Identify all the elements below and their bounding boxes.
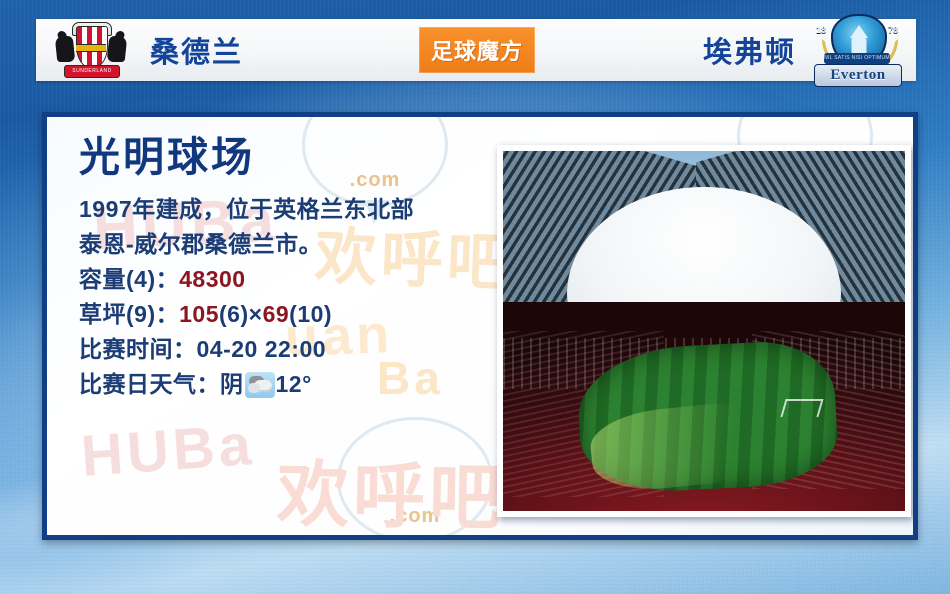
site-logo[interactable]: 足球魔方	[419, 27, 535, 73]
away-team-block[interactable]: 埃弗顿 18 78 NIL SATIS NISI OPTIMUM Everton	[535, 19, 916, 81]
watermark-brand-bottom: 欢呼吧	[276, 435, 506, 535]
pitch-length-rank: (6)	[219, 301, 249, 327]
site-logo-text: 足球魔方	[431, 34, 523, 66]
sunderland-crest-scroll-text: SUNDERLAND A.F.C.	[64, 65, 120, 78]
watermark-faint-c: HUBa	[79, 411, 257, 490]
weather-label: 比赛日天气：	[79, 371, 220, 397]
stadium-photo	[503, 151, 905, 511]
capacity-value: 48300	[179, 266, 245, 292]
stadium-info-card: .com .com .com HUBa 欢呼吧 uan HUBa 欢呼吧 Ba …	[42, 112, 918, 540]
pitch-separator: ×	[249, 301, 263, 327]
pitch-width-rank: (10)	[289, 301, 332, 327]
away-team-name: 埃弗顿	[703, 29, 796, 71]
watermark-bubble-bottom: .com	[337, 417, 493, 535]
pitch-row: 草坪(9)：105(6)×69(10)	[79, 297, 499, 332]
everton-year-left: 18	[816, 25, 826, 35]
stadium-description-line-1: 1997年建成，位于英格兰东北部	[79, 192, 499, 227]
match-time-value: 04-20 22:00	[197, 336, 327, 362]
pitch-length: 105	[179, 301, 219, 327]
capacity-label: 容量(4)：	[79, 266, 179, 292]
everton-motto: NIL SATIS NISI OPTIMUM	[824, 53, 890, 64]
pitch-label: 草坪(9)：	[79, 301, 179, 327]
cloudy-icon	[245, 372, 275, 398]
stadium-photo-frame[interactable]	[497, 145, 911, 517]
stadium-title: 光明球场	[79, 137, 499, 178]
stadium-description-line-2: 泰恩-威尔郡桑德兰市。	[79, 227, 499, 262]
weather-condition: 阴	[220, 371, 244, 397]
match-time-label: 比赛时间：	[79, 336, 197, 362]
match-time-row: 比赛时间：04-20 22:00	[79, 332, 499, 367]
stadium-info-card-page: SUNDERLAND A.F.C. 桑德兰 足球魔方 埃弗顿 18 78 NIL…	[0, 0, 950, 594]
home-team-name: 桑德兰	[150, 29, 243, 71]
sunderland-crest-icon: SUNDERLAND A.F.C.	[54, 22, 128, 78]
everton-crest-icon: 18 78 NIL SATIS NISI OPTIMUM Everton	[814, 13, 900, 87]
pitch-width: 69	[263, 301, 290, 327]
everton-banner-text: Everton	[830, 67, 885, 84]
everton-year-right: 78	[888, 25, 898, 35]
capacity-row: 容量(4)：48300	[79, 262, 499, 297]
weather-row: 比赛日天气：阴12°	[79, 367, 499, 402]
weather-temperature: 12°	[276, 371, 312, 397]
weather-icon-wrap	[244, 372, 276, 398]
stadium-info-text: 光明球场 1997年建成，位于英格兰东北部 泰恩-威尔郡桑德兰市。 容量(4)：…	[79, 137, 499, 402]
match-header-bar: SUNDERLAND A.F.C. 桑德兰 足球魔方 埃弗顿 18 78 NIL…	[36, 19, 916, 81]
home-team-block[interactable]: SUNDERLAND A.F.C. 桑德兰	[36, 19, 419, 81]
